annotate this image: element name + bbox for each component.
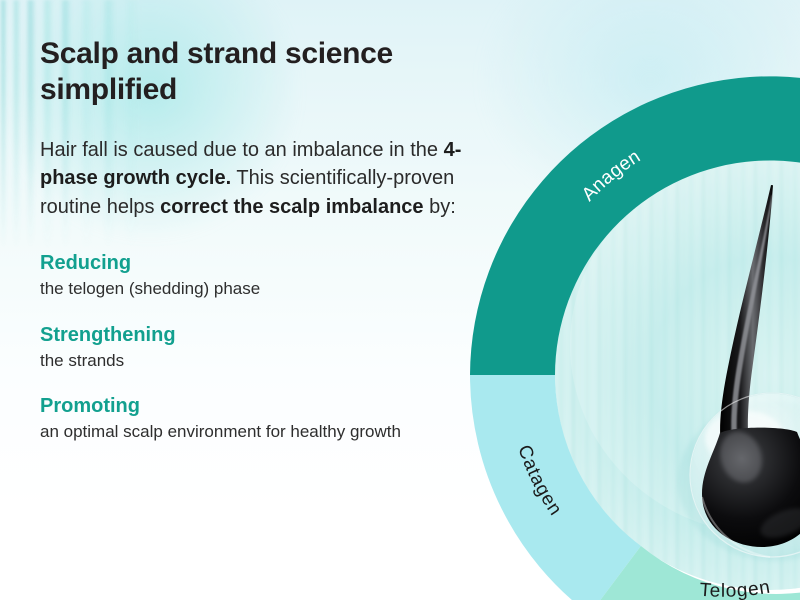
slide-canvas: Scalp and strand science simplified Hair… [0,0,800,600]
intro-paragraph: Hair fall is caused due to an imbalance … [40,136,490,221]
intro-text-part-1: Hair fall is caused due to an imbalance … [40,139,444,161]
hair-growth-cycle-diagram: Anagen Catagen Telogen [440,45,800,600]
intro-bold-2: correct the scalp imbalance [160,196,423,218]
